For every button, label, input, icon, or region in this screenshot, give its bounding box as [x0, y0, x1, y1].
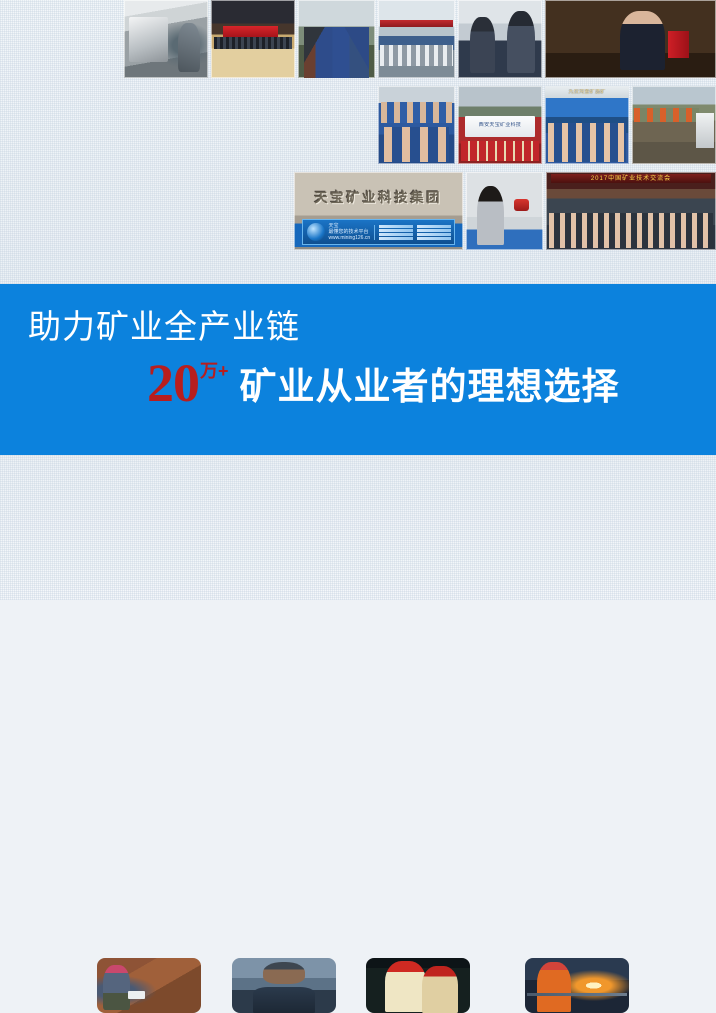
conference-banner-text: 2017中国矿业技术交流会	[551, 174, 711, 183]
brand-url: www.mining126.cn	[328, 235, 370, 241]
sign-row	[379, 233, 413, 236]
thumb-smiling-miner-portrait	[232, 958, 336, 1013]
company-sign-text: 天宝矿业科技集团	[301, 191, 456, 205]
company-sign-brand: 天宝 最懂您的技术平台 www.mining126.cn	[328, 223, 370, 241]
sign-row	[417, 225, 451, 228]
sign-row	[417, 229, 451, 232]
sign-subsidiary-list	[374, 225, 450, 240]
photo-industry-conference-group: 2017中国矿业技术交流会	[546, 172, 716, 250]
thumb-furnace-worker	[525, 958, 629, 1013]
photo-two-workers-sample-bowl	[458, 0, 542, 78]
photo-woman-pouring-sample	[466, 172, 543, 250]
photo-chairman-office-portrait	[545, 0, 716, 78]
photo-collage: 西安天宝矿业科技 九仪沟金矿选矿 天宝矿业科技集团 天宝 最懂您的技术平台 ww…	[0, 0, 716, 268]
headline-line-2: 20 万+ 矿业从业者的理想选择	[147, 356, 620, 410]
sign-row	[379, 237, 413, 240]
headline-banner: 助力矿业全产业链 20 万+ 矿业从业者的理想选择	[0, 284, 716, 455]
photo-hardhat-crew-by-van	[632, 86, 716, 164]
thumbnail-strip	[0, 455, 716, 600]
photo-mountain-site-group	[298, 0, 375, 78]
photo-blue-building-caption: 九仪沟金矿选矿	[545, 89, 629, 96]
photo-blue-uniform-crew	[378, 86, 455, 164]
company-sign-plate: 天宝 最懂您的技术平台 www.mining126.cn	[302, 219, 454, 246]
headline-line-1: 助力矿业全产业链	[28, 308, 300, 346]
photo-banner-caption: 西安天宝矿业科技	[458, 122, 542, 129]
sign-row	[417, 237, 451, 240]
thumb-geologist-field-survey	[97, 958, 201, 1013]
sign-row	[379, 229, 413, 232]
stat-number: 20	[147, 356, 199, 410]
photo-blue-building-group-photo: 九仪沟金矿选矿	[545, 86, 629, 164]
photo-red-stage-conference	[211, 0, 295, 78]
photo-banner-ceremony: 西安天宝矿业科技	[458, 86, 542, 164]
stat-unit-suffix: 万+	[200, 362, 229, 380]
sign-row	[417, 233, 451, 236]
promo-banner-page: 西安天宝矿业科技 九仪沟金矿选矿 天宝矿业科技集团 天宝 最懂您的技术平台 ww…	[0, 0, 716, 600]
sign-row	[379, 225, 413, 228]
globe-icon	[307, 223, 325, 241]
photo-lab-equipment-operator	[124, 0, 208, 78]
headline-tail-text: 矿业从业者的理想选择	[240, 367, 620, 407]
thumb-two-female-miners	[366, 958, 470, 1013]
photo-company-sign-wall: 天宝矿业科技集团 天宝 最懂您的技术平台 www.mining126.cn	[294, 172, 463, 250]
photo-lab-pipes-bench	[378, 0, 455, 78]
